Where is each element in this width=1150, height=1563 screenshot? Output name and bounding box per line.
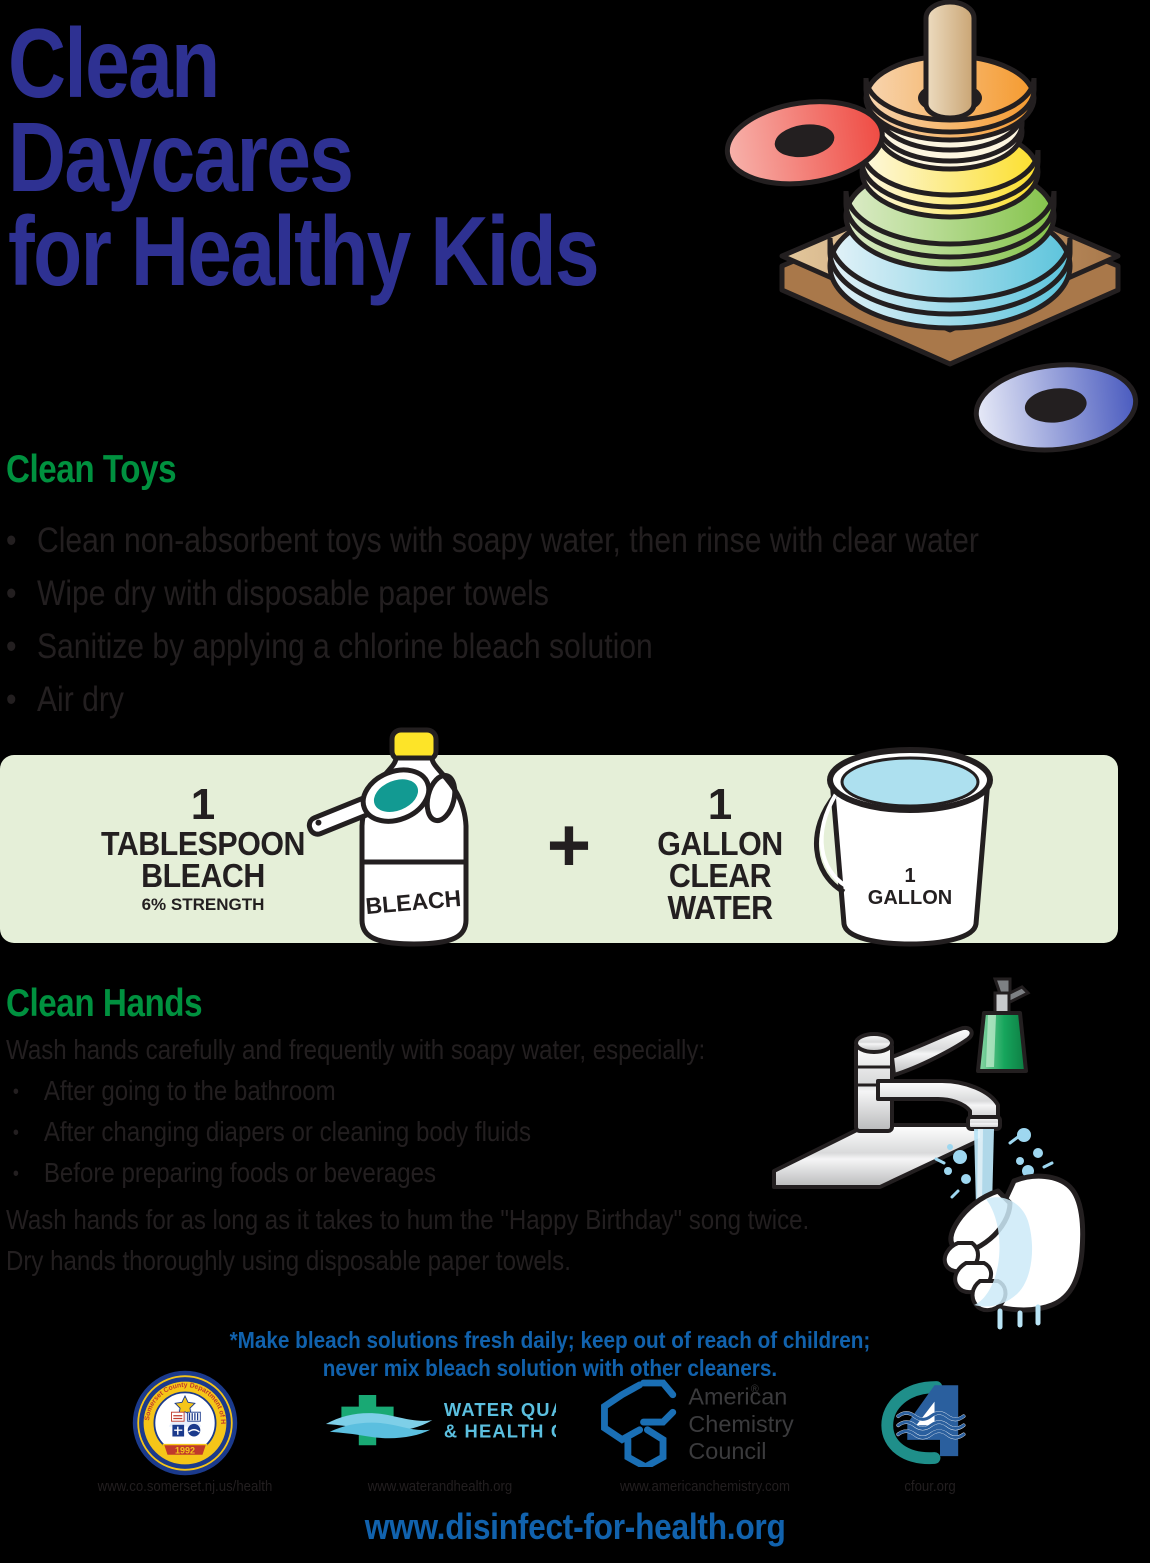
wqhc-line-1: WATER QUALITY xyxy=(444,1399,556,1420)
bullet-dot-icon: • xyxy=(13,1152,19,1196)
bottom-website-url[interactable]: www.disinfect-for-health.org xyxy=(0,1506,1150,1548)
logo-url-cfour[interactable]: cfour.org xyxy=(851,1478,1009,1496)
recipe-water-label: GALLON CLEAR WATER xyxy=(623,828,816,924)
bullet-dot-icon: • xyxy=(13,1111,19,1155)
logo-american-chemistry-council[interactable]: American ® Chemistry Council www.america… xyxy=(565,1368,845,1496)
clean-hands-intro: Wash hands carefully and frequently with… xyxy=(6,1032,705,1068)
clean-hands-note-two: Dry hands thoroughly using disposable pa… xyxy=(6,1243,571,1279)
clean-hands-note-one: Wash hands for as long as it takes to hu… xyxy=(6,1202,809,1238)
american-chemistry-hexagon-icon: American ® Chemistry Council xyxy=(583,1379,827,1467)
acc-registered-icon: ® xyxy=(751,1384,759,1396)
recipe-bleach-strength: 6% STRENGTH xyxy=(88,892,318,918)
logo-water-quality-health-council[interactable]: WATER QUALITY & HEALTH COUNCIL www.water… xyxy=(310,1368,570,1496)
somerset-county-seal-icon: 1992 Somerset County Department of Healt… xyxy=(131,1369,239,1477)
acc-line-2: Chemistry xyxy=(688,1411,794,1437)
clean-toys-bullet-list: •Clean non-absorbent toys with soapy wat… xyxy=(6,514,1150,726)
section-heading-clean-toys: Clean Toys xyxy=(6,450,176,489)
ring-stacker-toy-illustration xyxy=(700,0,1150,484)
list-item: •Air dry xyxy=(6,673,1124,726)
water-bucket-illustration: 1 GALLON xyxy=(800,742,1020,952)
partner-logo-row: 1992 Somerset County Department of Healt… xyxy=(0,1368,1150,1518)
bullet-dot-icon: • xyxy=(6,620,17,673)
recipe-water-amount: 1 xyxy=(615,782,825,828)
handwashing-faucet-illustration xyxy=(752,975,1150,1335)
logo-url-somerset[interactable]: www.co.somerset.nj.us/health xyxy=(71,1478,300,1496)
list-item: •Wipe dry with disposable paper towels xyxy=(6,567,1124,620)
recipe-bleach-amount: 1 xyxy=(88,782,318,828)
poster-root: Clean Daycares for Healthy Kids Clean To… xyxy=(0,0,1150,1563)
bottom-website-url-text[interactable]: www.disinfect-for-health.org xyxy=(365,1506,786,1548)
bullet-dot-icon: • xyxy=(6,514,17,567)
logo-url-americanchemistry[interactable]: www.americanchemistry.com xyxy=(582,1478,828,1496)
section-heading-clean-hands: Clean Hands xyxy=(6,984,202,1023)
cfour-c4-wave-icon xyxy=(880,1377,980,1469)
wqhc-line-2: & HEALTH COUNCIL xyxy=(444,1421,556,1442)
bullet-dot-icon: • xyxy=(6,673,17,726)
logo-url-waterandhealth[interactable]: www.waterandhealth.org xyxy=(326,1478,555,1496)
recipe-bleach-label: TABLESPOON BLEACH xyxy=(97,828,309,892)
bullet-dot-icon: • xyxy=(6,567,17,620)
logo-cfour[interactable]: cfour.org xyxy=(840,1368,1020,1496)
bucket-label-unit: GALLON xyxy=(868,887,952,909)
seal-year: 1992 xyxy=(175,1446,195,1456)
recipe-bleach-column: 1 TABLESPOON BLEACH 6% STRENGTH xyxy=(88,782,318,918)
list-item: •Clean non-absorbent toys with soapy wat… xyxy=(6,514,1124,567)
bullet-dot-icon: • xyxy=(13,1070,19,1114)
list-item: •Sanitize by applying a chlorine bleach … xyxy=(6,620,1124,673)
soap-dispenser-icon xyxy=(978,979,1028,1071)
plus-icon: + xyxy=(540,818,598,876)
recipe-water-column: 1 GALLON CLEAR WATER xyxy=(615,782,825,924)
page-title: Clean Daycares for Healthy Kids xyxy=(8,16,664,298)
logo-somerset-county[interactable]: 1992 Somerset County Department of Healt… xyxy=(55,1368,315,1496)
water-quality-cross-wave-icon: WATER QUALITY & HEALTH COUNCIL xyxy=(324,1388,556,1458)
bleach-bottle-illustration: BLEACH xyxy=(300,722,530,957)
bucket-label-amount: 1 xyxy=(904,865,915,887)
acc-line-1: American xyxy=(688,1383,787,1409)
acc-line-3: Council xyxy=(688,1438,766,1464)
